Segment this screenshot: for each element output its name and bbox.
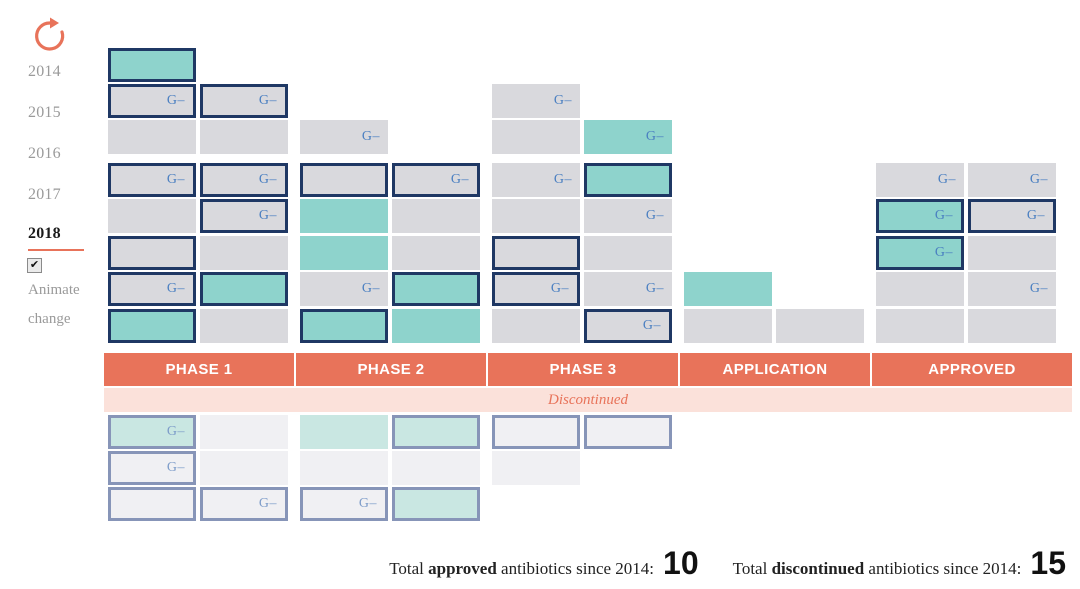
pipeline-grid: G–G–G–G–G–G–G–G–G–G–G–G–G–G–G–G–G–G–G–G–…: [0, 0, 1080, 345]
pipeline-cell-r3-c8[interactable]: G–: [876, 163, 964, 197]
gram-negative-label: G–: [551, 281, 569, 297]
pipeline-cell-r7-c9[interactable]: [968, 309, 1056, 343]
pipeline-cell-r5-c4[interactable]: [492, 236, 580, 270]
pipeline-cell-r2-c4[interactable]: [492, 120, 580, 154]
pipeline-cell-r3-c1[interactable]: G–: [200, 163, 288, 197]
gram-negative-label: G–: [259, 93, 277, 109]
phase-header-2[interactable]: PHASE 2: [296, 353, 488, 386]
total-approved-block: Total approved antibiotics since 2014: 1…: [389, 545, 698, 582]
pipeline-cell-r4-c2[interactable]: [300, 199, 388, 233]
pipeline-cell-r6-c9[interactable]: G–: [968, 272, 1056, 306]
total-discontinued-text: Total discontinued antibiotics since 201…: [733, 559, 1022, 579]
pipeline-cell-r7-c2[interactable]: [300, 309, 388, 343]
pipeline-cell-r7-c3[interactable]: [392, 309, 480, 343]
gram-negative-label: G–: [643, 318, 661, 334]
gram-negative-label: G–: [1030, 172, 1048, 188]
discontinued-cell-r1-c1[interactable]: [200, 451, 288, 485]
gram-negative-label: G–: [646, 208, 664, 224]
gram-negative-label: G–: [554, 172, 572, 188]
gram-negative-label: G–: [646, 129, 664, 145]
gram-negative-label: G–: [167, 281, 185, 297]
pipeline-cell-r6-c4[interactable]: G–: [492, 272, 580, 306]
pipeline-cell-r7-c8[interactable]: [876, 309, 964, 343]
phase-header-4[interactable]: APPLICATION: [680, 353, 872, 386]
gram-negative-label: G–: [167, 424, 185, 440]
discontinued-cell-r1-c0[interactable]: G–: [108, 451, 196, 485]
pipeline-cell-r7-c4[interactable]: [492, 309, 580, 343]
gram-negative-label: G–: [167, 460, 185, 476]
phase-header-3[interactable]: PHASE 3: [488, 353, 680, 386]
totals-footer: Total approved antibiotics since 2014: 1…: [0, 540, 1080, 586]
gram-negative-label: G–: [935, 208, 953, 224]
pipeline-cell-r5-c3[interactable]: [392, 236, 480, 270]
pipeline-cell-r3-c9[interactable]: G–: [968, 163, 1056, 197]
pipeline-cell-r6-c3[interactable]: [392, 272, 480, 306]
pipeline-cell-r5-c0[interactable]: [108, 236, 196, 270]
discontinued-cell-r0-c1[interactable]: [200, 415, 288, 449]
total-approved-text: Total approved antibiotics since 2014:: [389, 559, 654, 579]
discontinued-cell-r0-c3[interactable]: [392, 415, 480, 449]
pipeline-cell-r6-c1[interactable]: [200, 272, 288, 306]
gram-negative-label: G–: [167, 172, 185, 188]
pipeline-cell-r3-c5[interactable]: [584, 163, 672, 197]
pipeline-cell-r5-c9[interactable]: [968, 236, 1056, 270]
pipeline-cell-r4-c1[interactable]: G–: [200, 199, 288, 233]
pipeline-cell-r4-c5[interactable]: G–: [584, 199, 672, 233]
phase-header-1[interactable]: PHASE 1: [104, 353, 296, 386]
gram-negative-label: G–: [1027, 208, 1045, 224]
gram-negative-label: G–: [362, 281, 380, 297]
pipeline-cell-r6-c5[interactable]: G–: [584, 272, 672, 306]
discontinued-cell-r2-c2[interactable]: G–: [300, 487, 388, 521]
gram-negative-label: G–: [359, 496, 377, 512]
pipeline-cell-r0-c0[interactable]: [108, 48, 196, 82]
discontinued-cell-r0-c2[interactable]: [300, 415, 388, 449]
pipeline-cell-r1-c0[interactable]: G–: [108, 84, 196, 118]
total-discontinued-block: Total discontinued antibiotics since 201…: [733, 545, 1066, 582]
pipeline-cell-r4-c0[interactable]: [108, 199, 196, 233]
pipeline-cell-r7-c5[interactable]: G–: [584, 309, 672, 343]
discontinued-cell-r1-c2[interactable]: [300, 451, 388, 485]
pipeline-cell-r5-c8[interactable]: G–: [876, 236, 964, 270]
total-discontinued-count: 15: [1030, 545, 1066, 582]
pipeline-cell-r5-c2[interactable]: [300, 236, 388, 270]
pipeline-cell-r6-c6[interactable]: [684, 272, 772, 306]
gram-negative-label: G–: [938, 172, 956, 188]
pipeline-cell-r6-c8[interactable]: [876, 272, 964, 306]
phase-header-5[interactable]: APPROVED: [872, 353, 1072, 386]
gram-negative-label: G–: [646, 281, 664, 297]
discontinued-cell-r1-c3[interactable]: [392, 451, 480, 485]
pipeline-cell-r3-c2[interactable]: [300, 163, 388, 197]
pipeline-cell-r6-c2[interactable]: G–: [300, 272, 388, 306]
pipeline-cell-r2-c5[interactable]: G–: [584, 120, 672, 154]
gram-negative-label: G–: [1030, 281, 1048, 297]
pipeline-cell-r5-c5[interactable]: [584, 236, 672, 270]
gram-negative-label: G–: [935, 245, 953, 261]
pipeline-cell-r2-c1[interactable]: [200, 120, 288, 154]
gram-negative-label: G–: [362, 129, 380, 145]
pipeline-cell-r7-c0[interactable]: [108, 309, 196, 343]
discontinued-cell-r1-c4[interactable]: [492, 451, 580, 485]
gram-negative-label: G–: [259, 208, 277, 224]
pipeline-cell-r4-c3[interactable]: [392, 199, 480, 233]
discontinued-band: Discontinued: [104, 388, 1072, 412]
total-approved-count: 10: [663, 545, 699, 582]
pipeline-cell-r7-c6[interactable]: [684, 309, 772, 343]
discontinued-cell-r0-c4[interactable]: [492, 415, 580, 449]
gram-negative-label: G–: [259, 496, 277, 512]
gram-negative-label: G–: [167, 93, 185, 109]
gram-negative-label: G–: [554, 93, 572, 109]
pipeline-cell-r5-c1[interactable]: [200, 236, 288, 270]
pipeline-cell-r2-c0[interactable]: [108, 120, 196, 154]
pipeline-cell-r3-c4[interactable]: G–: [492, 163, 580, 197]
phase-header-bar: PHASE 1PHASE 2PHASE 3APPLICATIONAPPROVED: [104, 353, 1072, 386]
gram-negative-label: G–: [451, 172, 469, 188]
discontinued-cell-r0-c0[interactable]: G–: [108, 415, 196, 449]
gram-negative-label: G–: [259, 172, 277, 188]
discontinued-cell-r2-c0[interactable]: [108, 487, 196, 521]
pipeline-cell-r1-c4[interactable]: G–: [492, 84, 580, 118]
pipeline-cell-r4-c8[interactable]: G–: [876, 199, 964, 233]
pipeline-cell-r1-c1[interactable]: G–: [200, 84, 288, 118]
pipeline-cell-r7-c7[interactable]: [776, 309, 864, 343]
pipeline-cell-r2-c2[interactable]: G–: [300, 120, 388, 154]
discontinued-cell-r2-c3[interactable]: [392, 487, 480, 521]
discontinued-cell-r0-c5[interactable]: [584, 415, 672, 449]
pipeline-cell-r6-c0[interactable]: G–: [108, 272, 196, 306]
pipeline-cell-r4-c4[interactable]: [492, 199, 580, 233]
pipeline-cell-r3-c0[interactable]: G–: [108, 163, 196, 197]
pipeline-cell-r4-c9[interactable]: G–: [968, 199, 1056, 233]
pipeline-cell-r3-c3[interactable]: G–: [392, 163, 480, 197]
pipeline-cell-r7-c1[interactable]: [200, 309, 288, 343]
discontinued-cell-r2-c1[interactable]: G–: [200, 487, 288, 521]
